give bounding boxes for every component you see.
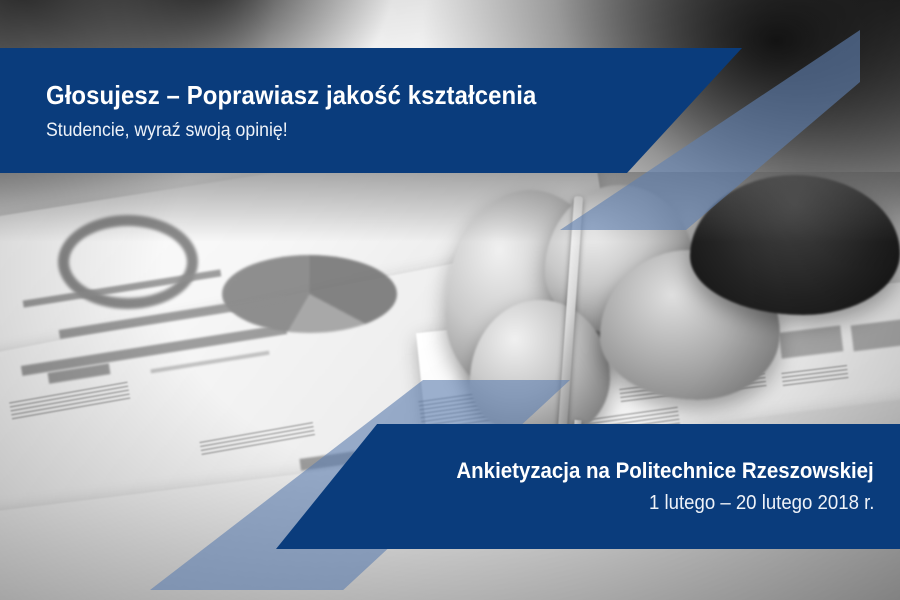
page-subtitle: Studencie, wyraź swoją opinię!: [46, 120, 693, 142]
top-banner: Głosujesz – Poprawiasz jakość kształceni…: [0, 48, 742, 173]
event-heading: Ankietyzacja na Politechnice Rzeszowskie…: [457, 458, 874, 484]
event-date-range: 1 lutego – 20 lutego 2018 r.: [649, 492, 874, 515]
page-title: Głosujesz – Poprawiasz jakość kształceni…: [46, 80, 686, 111]
bottom-banner: Ankietyzacja na Politechnice Rzeszowskie…: [276, 424, 900, 549]
pie-chart-graphic: [222, 255, 397, 333]
poster-banner: Głosujesz – Poprawiasz jakość kształceni…: [0, 0, 900, 600]
